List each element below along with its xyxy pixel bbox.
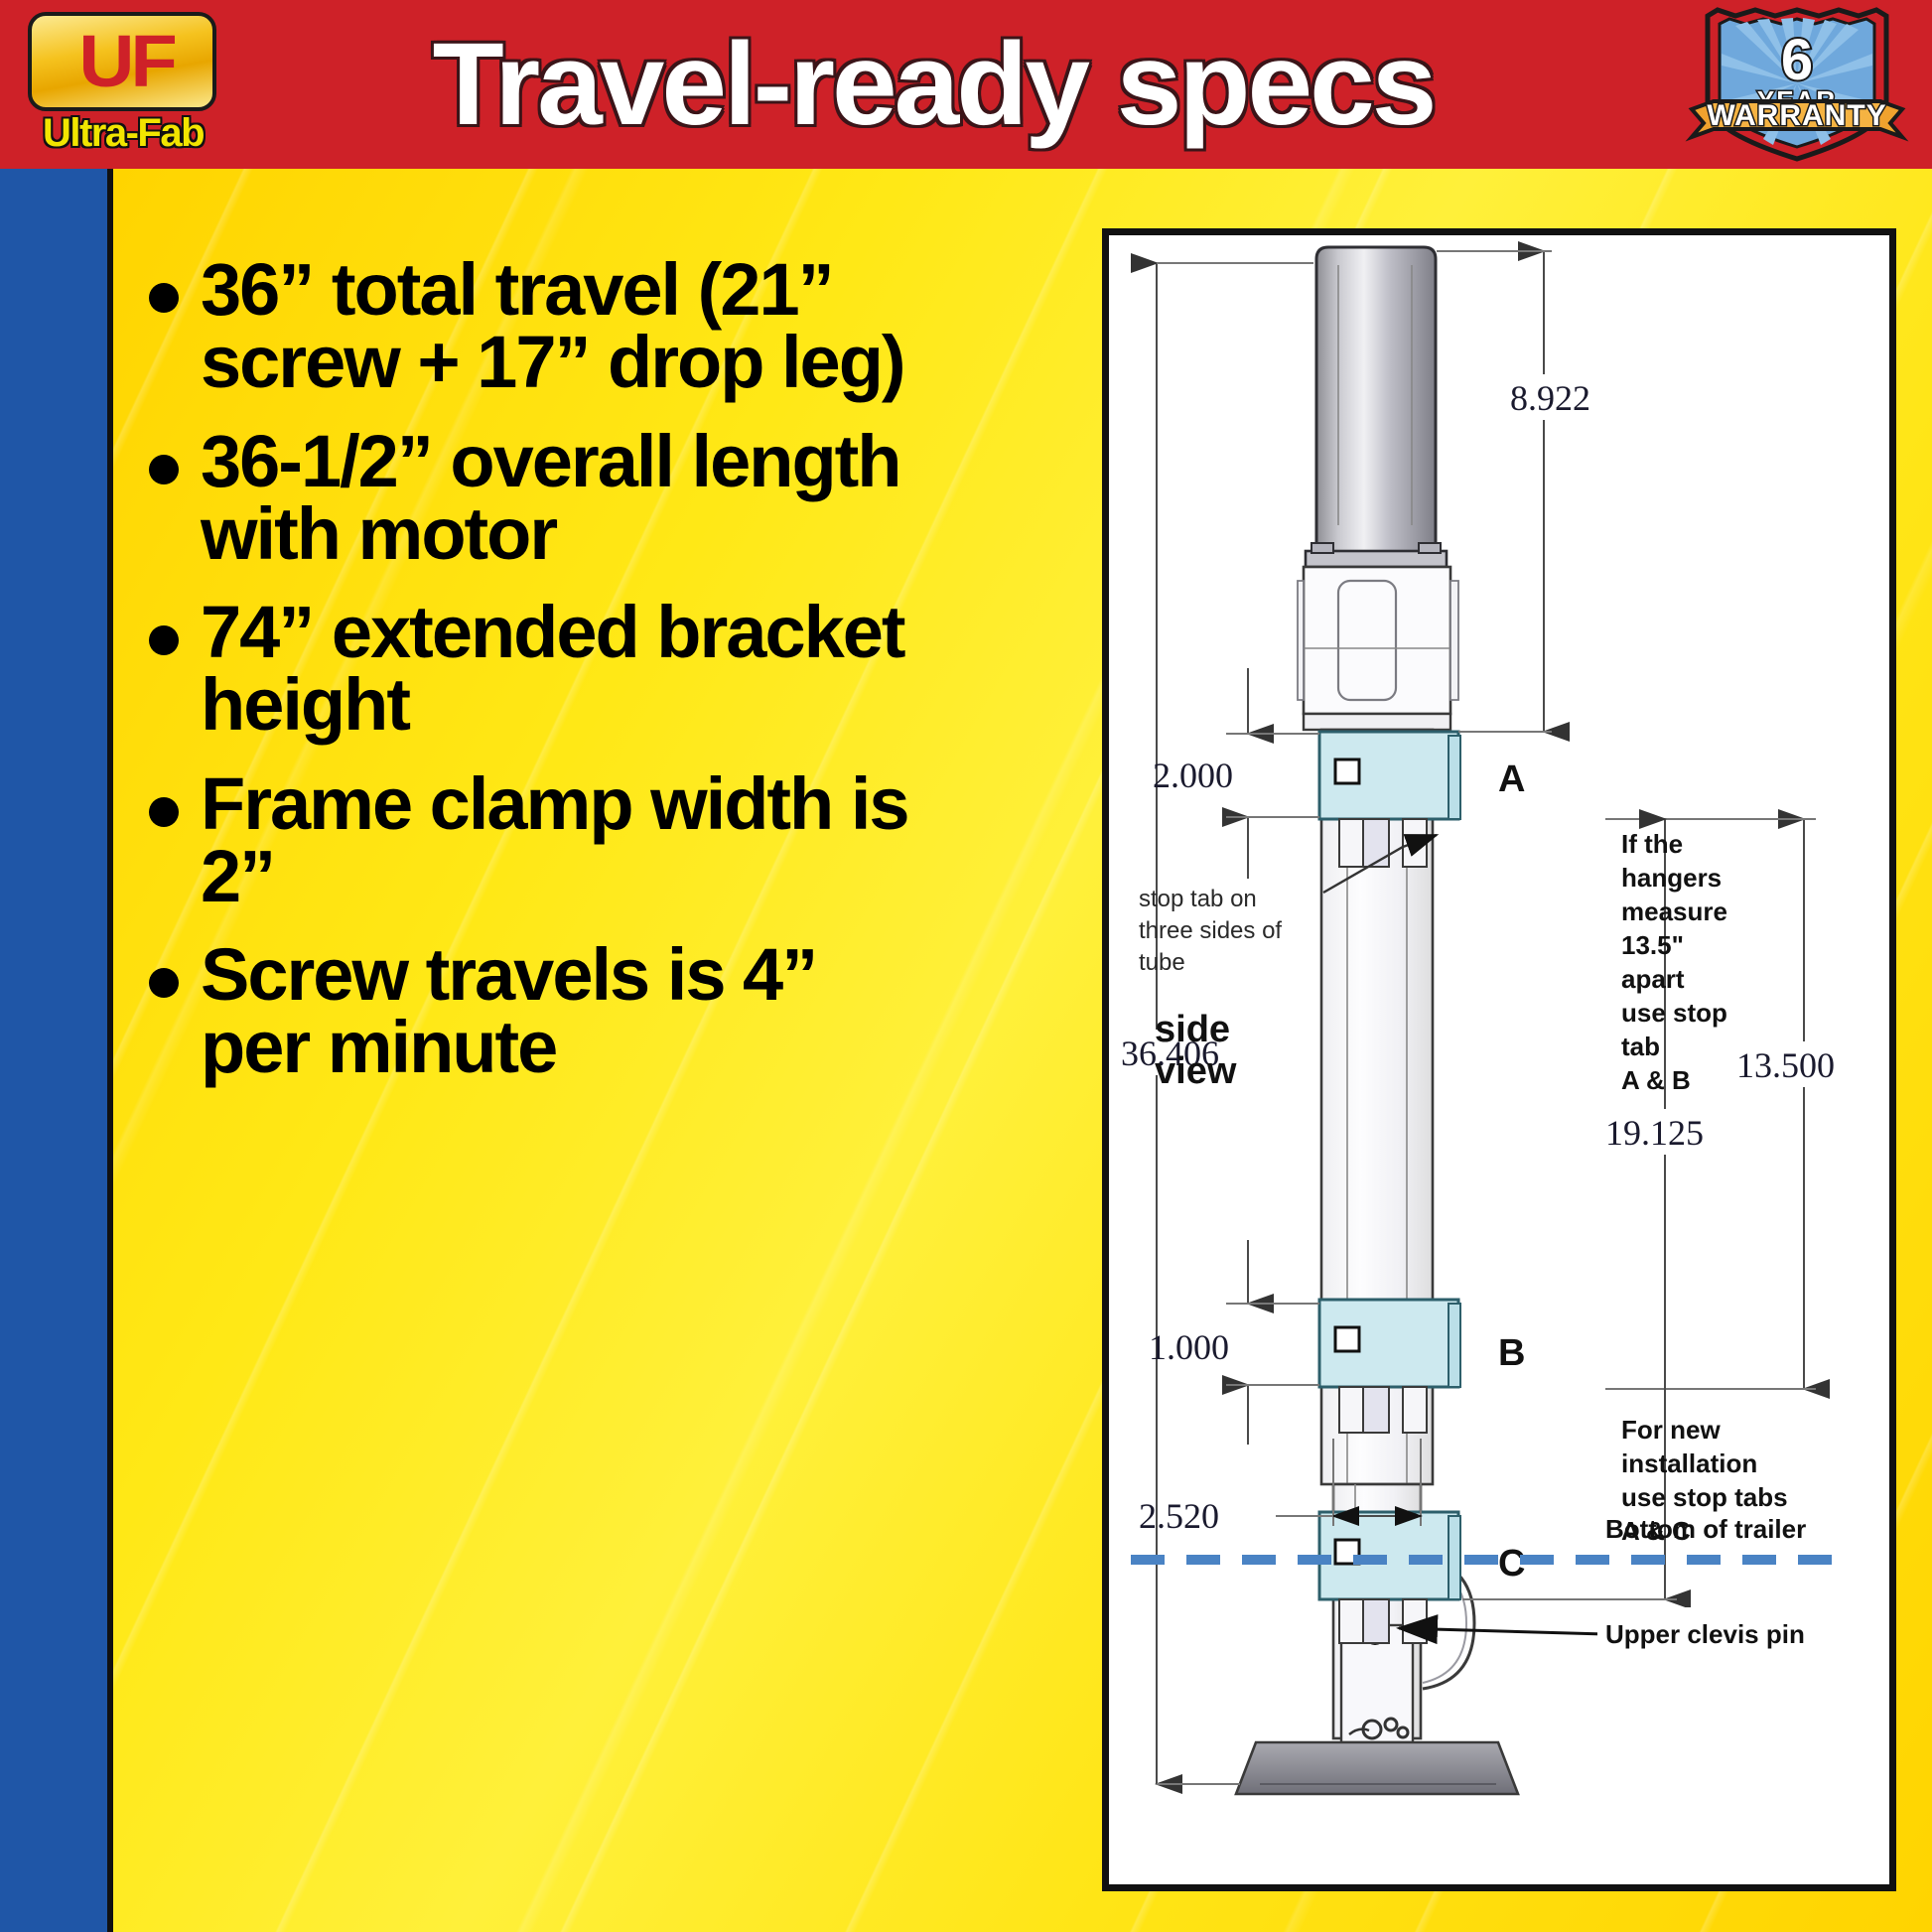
view-label: side view [1155,1009,1237,1092]
note-hangers-line-1: If the [1621,829,1683,859]
list-item: 36-1/2” overall length with motor [149,425,933,571]
panel-divider [107,169,113,1932]
list-item: Frame clamp width is 2” [149,767,933,913]
page-title: Travel-ready specs [228,6,1638,163]
bullet-dot-icon [149,283,179,313]
note-hangers-line-4: 13.5" [1621,930,1684,960]
note-stop-tab-line-2: three sides of [1139,917,1282,944]
foot-pad [1236,1742,1518,1794]
dim-tab-a-to-c: 19.125 [1605,1113,1704,1153]
note-new-install-line-3: use stop tabs [1621,1482,1788,1512]
gearbox-housing [1298,567,1458,730]
tab-label-b: B [1498,1332,1525,1374]
bullet-dot-icon [149,797,179,827]
note-new-install-line-1: For new [1621,1415,1721,1445]
list-item: 36” total travel (21” screw + 17” drop l… [149,253,933,399]
dim-tube-width: 2.520 [1139,1496,1219,1536]
bullet-dot-icon [149,625,179,655]
dim-hanger-spacing: 13.500 [1736,1045,1835,1085]
list-item: Screw travels is 4” per minute [149,938,933,1084]
technical-drawing-panel: 36.406 8.922 2.000 [1102,228,1896,1891]
left-blue-accent-strip [0,169,111,1932]
dim-tab-b-offset: 1.000 [1149,1327,1229,1367]
bullet-dot-icon [149,968,179,998]
spec-text: 74” extended bracket height [201,596,933,742]
warranty-label: WARRANTY [1707,99,1886,132]
note-hangers-line-2: hangers [1621,863,1722,893]
logo-plate: UF [28,12,216,111]
note-new-install-line-2: installation [1621,1449,1757,1478]
upper-clevis-pin-callout: Upper clevis pin [1399,1607,1875,1651]
dim-tab-a-offset: 2.000 [1153,756,1233,795]
warranty-number: 6 [1781,28,1813,92]
stop-tab-c [1319,1512,1460,1643]
note-hangers-line-8: A & B [1621,1065,1691,1095]
warranty-shield-icon: 6 YEAR WARRANTY [1678,6,1916,163]
stop-tab-a [1319,730,1460,867]
dimension-motor-height: 8.922 [1437,251,1641,732]
note-hangers-line-3: measure [1621,897,1727,926]
side-view-drawing: 36.406 8.922 2.000 [1109,235,1889,1884]
spec-text: 36” total travel (21” screw + 17” drop l… [201,253,933,399]
dim-motor-height: 8.922 [1510,378,1590,418]
list-item: 74” extended bracket height [149,596,933,742]
note-upper-clevis-pin: Upper clevis pin [1605,1619,1805,1649]
note-hangers-line-5: apart [1621,964,1685,994]
note-hangers: If the hangers measure 13.5" apart use s… [1621,829,1727,1095]
note-hangers-line-7: tab [1621,1032,1660,1061]
note-stop-tab-line-1: stop tab on [1139,886,1257,912]
spec-text: Frame clamp width is 2” [201,767,933,913]
bottom-of-trailer-marker: Bottom of trailer [1131,1514,1850,1560]
spec-bullet-list: 36” total travel (21” screw + 17” drop l… [149,253,933,1110]
spec-text: 36-1/2” overall length with motor [201,425,933,571]
note-bottom-of-trailer: Bottom of trailer [1605,1514,1806,1544]
motor-assembly [1306,247,1447,567]
logo-mark-text: UF [27,16,225,107]
note-stop-tab-line-3: tube [1139,949,1185,976]
dimension-tab-b-offset: 1.000 [1149,1240,1319,1445]
header-bar: UF Ultra-Fab Travel-ready specs [0,0,1932,169]
view-label-line-1: side [1155,1009,1230,1050]
bullet-dot-icon [149,455,179,484]
warranty-badge: 6 YEAR WARRANTY [1678,6,1916,163]
note-hangers-line-6: use stop [1621,998,1727,1028]
infographic-page: UF Ultra-Fab Travel-ready specs [0,0,1932,1932]
view-label-line-2: view [1155,1050,1237,1092]
tab-label-a: A [1498,759,1525,800]
brand-logo: UF Ultra-Fab [28,12,216,159]
spec-text: Screw travels is 4” per minute [201,938,933,1084]
stop-tab-b [1319,1300,1460,1433]
logo-brand-name: Ultra-Fab [24,111,222,156]
dimension-tab-a-offset: 2.000 [1153,668,1319,879]
